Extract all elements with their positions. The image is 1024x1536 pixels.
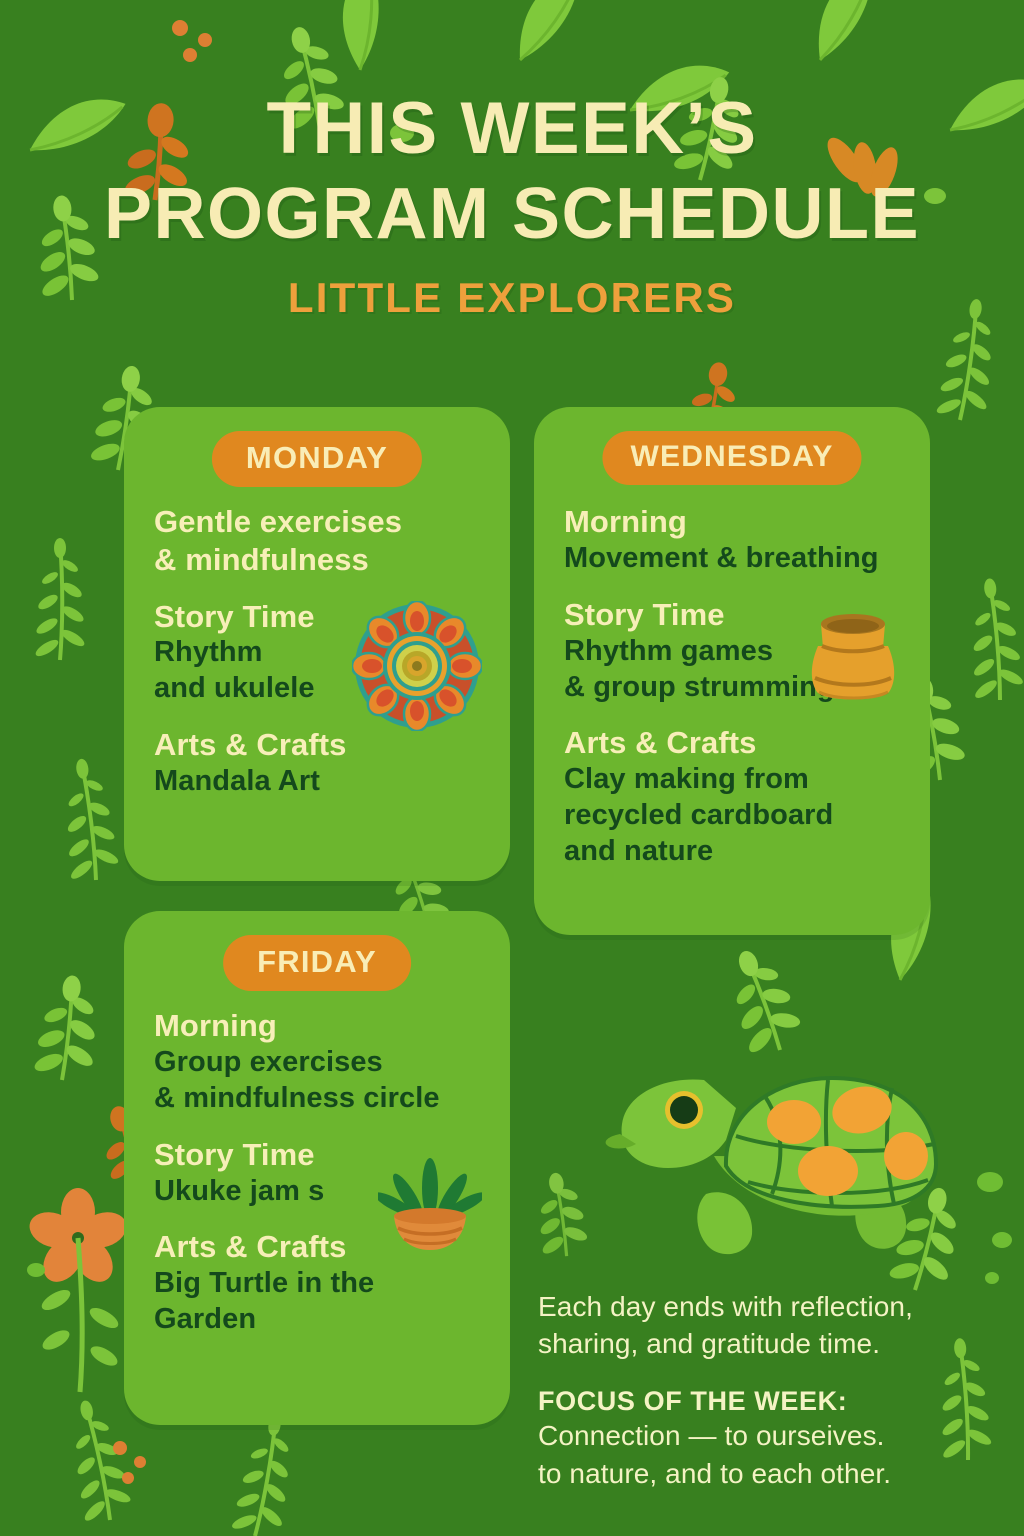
poster-canvas: THIS WEEK’S PROGRAM SCHEDULE LITTLE EXPL… [0, 0, 1024, 1536]
potted-plant-icon [378, 1152, 482, 1256]
entry-title: Arts & Crafts [154, 726, 486, 764]
entry-title: Morning [154, 1007, 486, 1045]
entry-detail: Mandala Art [154, 764, 486, 800]
turtle-illustration [596, 1016, 976, 1286]
day-badge-friday: FRIDAY [223, 935, 411, 991]
schedule-entry: Gentle exercises& mindfulness [154, 503, 486, 579]
footer-note: Each day ends with reflection,sharing, a… [538, 1288, 958, 1362]
schedule-entry: Morning Movement & breathing [564, 503, 906, 577]
clay-pot-icon [801, 604, 905, 708]
page-subtitle: LITTLE EXPLORERS [0, 274, 1024, 322]
entry-detail: Movement & breathing [564, 541, 906, 577]
page-title-line-1: THIS WEEK’S [0, 92, 1024, 166]
entry-title: Gentle exercises& mindfulness [154, 503, 486, 579]
poster-header: THIS WEEK’S PROGRAM SCHEDULE LITTLE EXPL… [0, 92, 1024, 322]
entry-title: Morning [564, 503, 906, 541]
focus-of-the-week-label: FOCUS OF THE WEEK: [538, 1386, 958, 1417]
day-badge-monday: MONDAY [212, 431, 422, 487]
schedule-entry: Arts & Crafts Clay making fromrecycled c… [564, 724, 906, 870]
day-badge-wednesday: WEDNESDAY [602, 431, 861, 485]
footer-block: Each day ends with reflection,sharing, a… [538, 1288, 958, 1492]
page-title-line-2: PROGRAM SCHEDULE [0, 178, 1024, 251]
entry-detail: Big Turtle in theGarden [154, 1266, 486, 1338]
schedule-entry: Arts & Crafts Mandala Art [154, 726, 486, 800]
mandala-icon [352, 601, 482, 731]
entry-title: Arts & Crafts [564, 724, 906, 762]
entry-detail: Clay making fromrecycled cardboardand na… [564, 762, 906, 870]
schedule-entry: Morning Group exercises& mindfulness cir… [154, 1007, 486, 1117]
focus-of-the-week-text: Connection — to ourseives.to nature, and… [538, 1417, 958, 1491]
entry-detail: Group exercises& mindfulness circle [154, 1045, 486, 1117]
